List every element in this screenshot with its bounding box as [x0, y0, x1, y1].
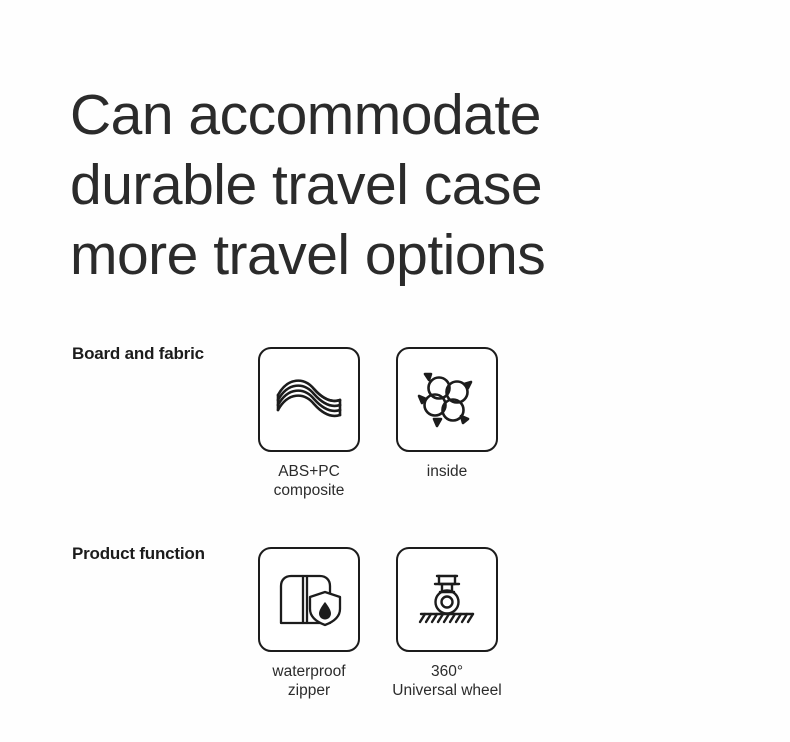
layered-waves-icon	[274, 373, 344, 427]
card-group-board-and-fabric: ABS+PC composite	[258, 347, 498, 500]
card-group-product-function: waterproof zipper	[258, 547, 498, 700]
feature-caption-abs-pc-composite: ABS+PC composite	[234, 462, 384, 500]
feature-caption-universal-wheel: 360° Universal wheel	[372, 662, 522, 700]
feature-card-waterproof-zipper[interactable]: waterproof zipper	[258, 547, 360, 700]
feature-row-board-and-fabric: Board and fabric	[0, 330, 790, 530]
icon-box-cotton-flower	[396, 347, 498, 452]
page-title-line-1: Can accommodate	[70, 80, 730, 150]
feature-caption-waterproof-zipper: waterproof zipper	[234, 662, 384, 700]
feature-card-abs-pc-composite[interactable]: ABS+PC composite	[258, 347, 360, 500]
page-title-line-3: more travel options	[70, 220, 730, 290]
section-label-board-and-fabric: Board and fabric	[72, 344, 204, 364]
section-label-product-function: Product function	[72, 544, 205, 564]
feature-row-product-function: Product function waterproof zipper	[0, 530, 790, 730]
cotton-flower-icon	[417, 371, 477, 429]
feature-caption-cotton-inside: inside	[372, 462, 522, 481]
universal-wheel-icon	[413, 569, 481, 631]
icon-box-waterproof-zipper	[258, 547, 360, 652]
icon-box-layered-waves	[258, 347, 360, 452]
feature-card-cotton-inside[interactable]: inside	[396, 347, 498, 500]
page-title-line-2: durable travel case	[70, 150, 730, 220]
feature-sections: Board and fabric	[0, 330, 790, 730]
feature-card-universal-wheel[interactable]: 360° Universal wheel	[396, 547, 498, 700]
page-title: Can accommodate durable travel case more…	[70, 80, 730, 290]
icon-box-universal-wheel	[396, 547, 498, 652]
waterproof-zipper-icon	[276, 569, 342, 631]
